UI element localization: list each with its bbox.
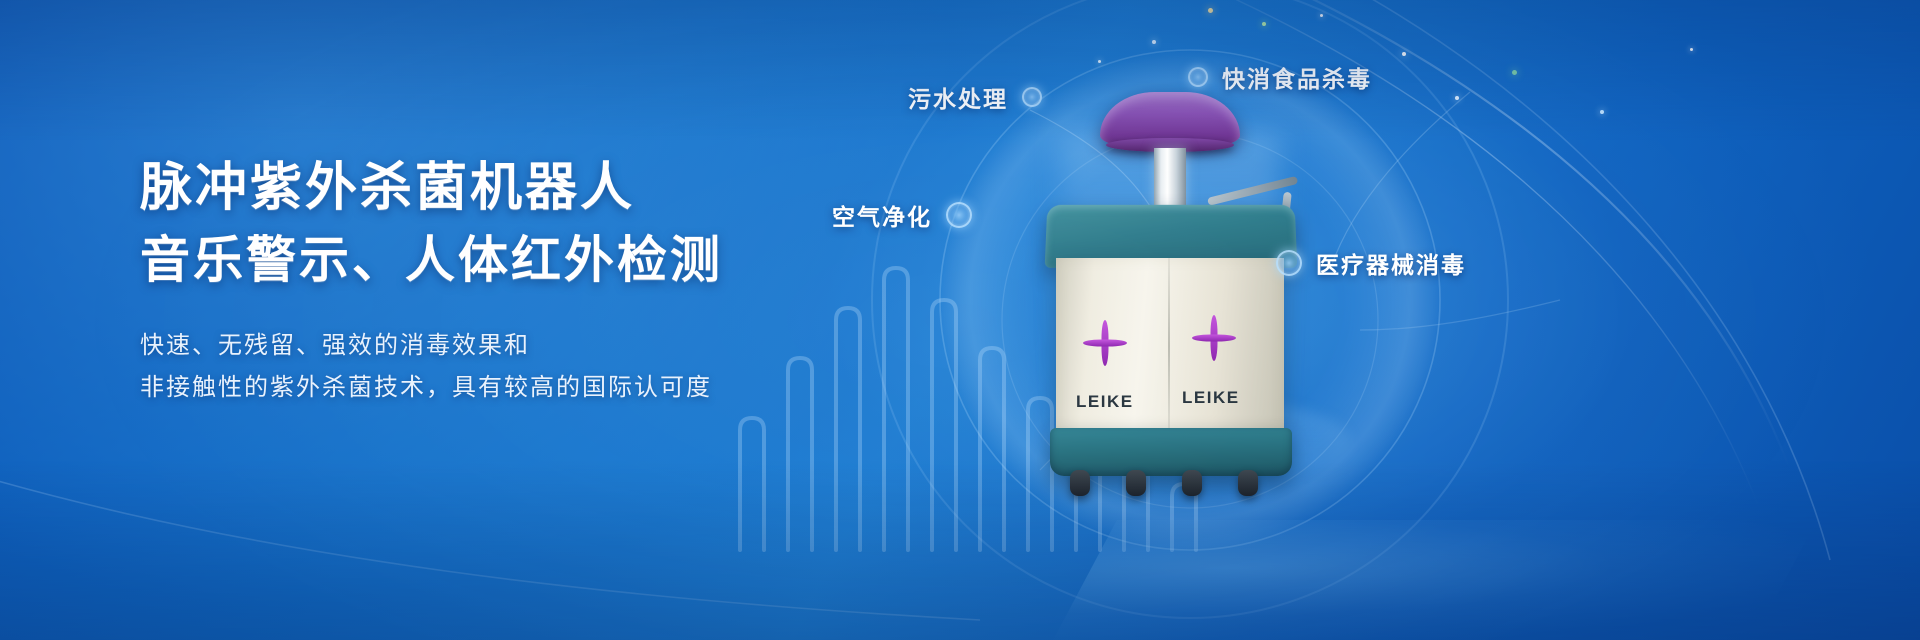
sparkle-speck	[1690, 48, 1693, 51]
sparkle-emblem-icon	[1082, 320, 1128, 366]
sparkle-speck	[1455, 96, 1459, 100]
sparkle-emblem-icon	[1186, 310, 1242, 366]
headline-block: 脉冲紫外杀菌机器人 音乐警示、人体红外检测 快速、无残留、强效的消毒效果和 非接…	[140, 152, 860, 408]
subtitle-line-1: 快速、无残留、强效的消毒效果和	[140, 324, 860, 366]
sparkle-speck	[1512, 70, 1517, 75]
page-title-line-2: 音乐警示、人体红外检测	[140, 224, 860, 296]
feature-sewage-treatment[interactable]: 污水处理	[908, 80, 1042, 114]
robot-wheel	[1238, 470, 1258, 496]
feature-label: 医疗器械消毒	[1316, 246, 1466, 280]
node-marker-icon	[1276, 250, 1302, 276]
robot-wheel	[1182, 470, 1202, 496]
robot-wheel	[1126, 470, 1146, 496]
robot-base-shell	[1050, 428, 1292, 476]
brand-label-right: LEIKE	[1182, 388, 1240, 408]
feature-label: 污水处理	[908, 80, 1008, 114]
robot-illustration: LEIKE LEIKE	[1020, 92, 1300, 512]
sparkle-speck	[1600, 110, 1604, 114]
feature-medical-device-disinfection[interactable]: 医疗器械消毒	[1276, 246, 1466, 280]
robot-wheel	[1070, 470, 1090, 496]
sparkle-speck	[1402, 52, 1406, 56]
product-banner: LEIKE LEIKE 污水处理 快消食品杀毒 空气净化 医疗器械消毒 脉冲紫外…	[0, 0, 1920, 640]
page-title-line-1: 脉冲紫外杀菌机器人	[140, 152, 860, 224]
sparkle-speck	[1262, 22, 1266, 26]
node-marker-icon	[946, 202, 972, 228]
floor-light-glow	[1053, 520, 1817, 640]
panel-seam	[1168, 258, 1170, 434]
sparkle-speck	[1098, 60, 1101, 63]
sparkle-speck	[1320, 14, 1323, 17]
feature-label: 快消食品杀毒	[1222, 60, 1372, 94]
sparkle-speck	[1208, 8, 1213, 13]
subtitle-line-2: 非接触性的紫外杀菌技术，具有较高的国际认可度	[140, 366, 860, 408]
node-marker-icon	[1188, 67, 1208, 87]
sparkle-speck	[1152, 40, 1156, 44]
brand-label-left: LEIKE	[1076, 392, 1134, 412]
feature-fmcg-food-sterilization[interactable]: 快消食品杀毒	[1188, 60, 1372, 94]
node-marker-icon	[1022, 87, 1042, 107]
